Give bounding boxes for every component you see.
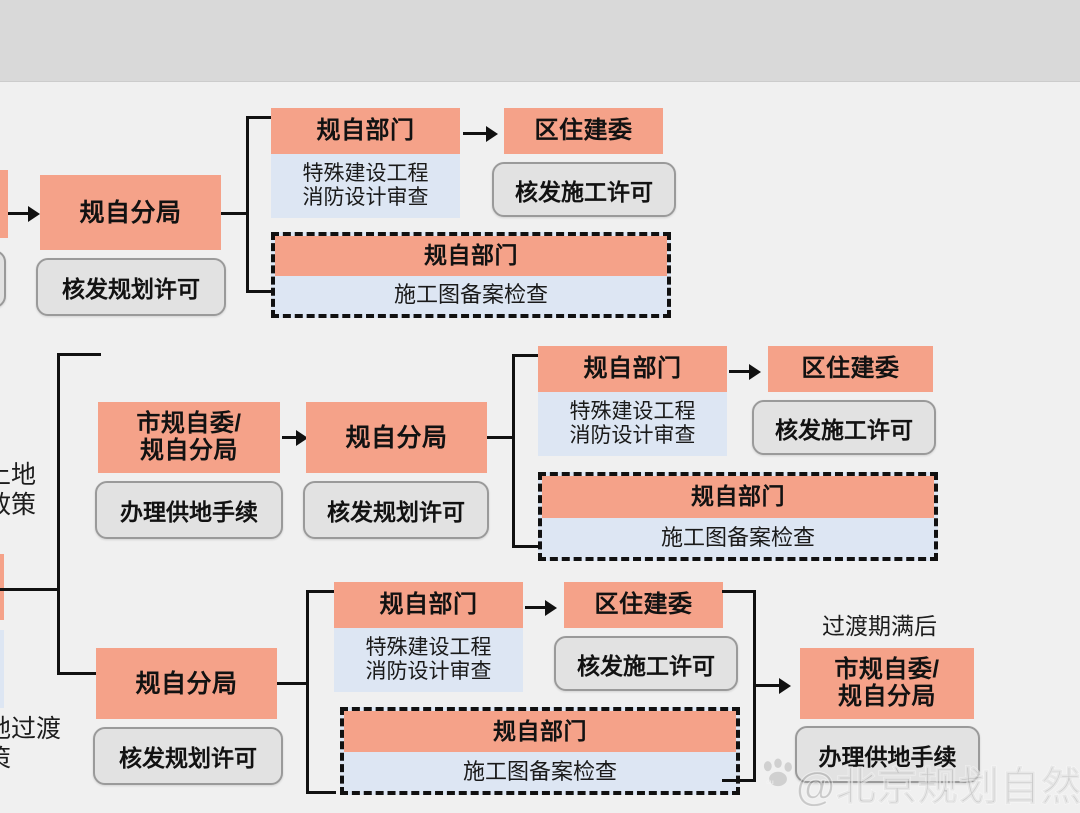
screenshot-root: 规自分局 核发规划许可 规自部门 特殊建设工程 消防设计审查 区住建委 核发施工…	[0, 0, 1080, 813]
connector-line	[512, 545, 540, 548]
node-bot-quzhujianwei-header: 区住建委	[564, 582, 723, 628]
node-bot-after-shiguiziwei[interactable]: 市规自委/ 规自分局	[800, 648, 974, 719]
node-bot-after-shiguiziwei-header: 市规自委/ 规自分局	[800, 648, 974, 719]
node-mid-guizibumen[interactable]: 规自部门 特殊建设工程 消防设计审查	[538, 346, 727, 456]
node-bot-guizibumen-header: 规自部门	[334, 582, 523, 628]
arrow-head-icon	[545, 600, 557, 616]
node-bot-guizifenju-header: 规自分局	[96, 648, 277, 719]
clipped-node-left-middle-header	[0, 554, 4, 620]
node-top-beian-dashed[interactable]: 规自部门 施工图备案检查	[271, 232, 671, 318]
node-mid-guizibumen-header: 规自部门	[538, 346, 727, 392]
node-bot-beian-body: 施工图备案检查	[344, 752, 736, 791]
label-land-policy: 土地 政策	[0, 460, 36, 520]
connector-line	[487, 436, 515, 439]
node-mid-beian-dashed[interactable]: 规自部门 施工图备案检查	[538, 472, 938, 561]
node-mid-guizibumen-body: 特殊建设工程 消防设计审查	[538, 392, 727, 456]
node-mid-beian-header: 规自部门	[542, 476, 934, 518]
connector-line	[246, 116, 274, 119]
clipped-body-left-middle	[0, 630, 4, 708]
node-mid-beian-body: 施工图备案检查	[542, 518, 934, 557]
connector-line	[221, 212, 249, 215]
node-bot-guizifenju[interactable]: 规自分局	[96, 648, 277, 719]
node-bot-guizibumen[interactable]: 规自部门 特殊建设工程 消防设计审查	[334, 582, 523, 692]
connector-line	[57, 353, 101, 356]
node-mid-guizifenju-pill[interactable]: 核发规划许可	[303, 481, 489, 539]
node-top-guizifenju-pill[interactable]: 核发规划许可	[36, 258, 226, 316]
node-bot-quzhujianwei[interactable]: 区住建委	[564, 582, 723, 628]
clipped-pill-left-top-label	[0, 250, 6, 308]
node-bot-beian-header: 规自部门	[344, 711, 736, 752]
node-top-guizifenju-header: 规自分局	[40, 175, 221, 250]
node-top-quzhujianwei-header: 区住建委	[504, 108, 663, 154]
connector-line	[57, 353, 60, 675]
label-land-transition-policy: 地过渡 策	[0, 714, 61, 774]
baidu-paw-icon: du	[761, 758, 795, 788]
connector-line	[306, 590, 336, 593]
connector-line	[246, 116, 249, 293]
clipped-node-left-top	[0, 170, 8, 238]
connector-line	[722, 779, 756, 782]
node-bot-quzhujianwei-pill[interactable]: 核发施工许可	[554, 636, 738, 691]
clipped-pill-left-top	[0, 250, 6, 308]
clipped-node-left-top-header	[0, 170, 8, 238]
connector-line	[463, 132, 488, 135]
node-mid-guizifenju[interactable]: 规自分局	[306, 402, 487, 473]
arrow-head-icon	[749, 364, 761, 380]
connector-line	[0, 588, 60, 591]
node-mid-shiguiziwei-pill[interactable]: 办理供地手续	[95, 481, 283, 539]
connector-line	[246, 290, 274, 293]
node-mid-shiguiziwei-header: 市规自委/ 规自分局	[98, 402, 280, 473]
arrow-head-icon	[28, 206, 40, 222]
node-top-beian-header: 规自部门	[275, 236, 667, 276]
watermark-text: @北京规划自然资源	[796, 754, 1080, 812]
node-mid-shiguiziwei[interactable]: 市规自委/ 规自分局	[98, 402, 280, 473]
node-mid-quzhujianwei-pill[interactable]: 核发施工许可	[752, 400, 936, 455]
node-top-guizibumen-body: 特殊建设工程 消防设计审查	[271, 154, 460, 218]
connector-line	[306, 590, 309, 794]
connector-line	[277, 682, 309, 685]
node-mid-guizifenju-header: 规自分局	[306, 402, 487, 473]
node-bot-beian-dashed[interactable]: 规自部门 施工图备案检查	[340, 707, 740, 795]
arrow-head-icon	[486, 126, 498, 142]
label-after-transition-period: 过渡期满后	[822, 607, 937, 641]
connector-line	[722, 590, 756, 593]
connector-line	[57, 672, 101, 675]
flowchart-canvas: 规自分局 核发规划许可 规自部门 特殊建设工程 消防设计审查 区住建委 核发施工…	[0, 82, 1080, 813]
arrow-head-icon	[779, 678, 791, 694]
window-top-bar	[0, 0, 1080, 82]
connector-line	[306, 791, 336, 794]
connector-line	[729, 370, 751, 373]
node-mid-quzhujianwei[interactable]: 区住建委	[768, 346, 933, 392]
connector-line	[8, 212, 30, 215]
connector-line	[512, 354, 515, 548]
node-top-guizibumen[interactable]: 规自部门 特殊建设工程 消防设计审查	[271, 108, 460, 218]
node-top-guizibumen-header: 规自部门	[271, 108, 460, 154]
node-bot-guizibumen-body: 特殊建设工程 消防设计审查	[334, 628, 523, 692]
node-top-beian-body: 施工图备案检查	[275, 276, 667, 314]
node-top-guizifenju[interactable]: 规自分局	[40, 175, 221, 250]
connector-line	[525, 606, 547, 609]
node-top-quzhujianwei-pill[interactable]: 核发施工许可	[492, 162, 676, 217]
clipped-node-left-middle	[0, 554, 4, 620]
clipped-body-left-middle-text	[0, 630, 4, 708]
connector-line	[512, 354, 540, 357]
svg-text:du: du	[766, 779, 774, 786]
node-mid-quzhujianwei-header: 区住建委	[768, 346, 933, 392]
node-top-quzhujianwei[interactable]: 区住建委	[504, 108, 663, 154]
node-bot-guizifenju-pill[interactable]: 核发规划许可	[93, 727, 283, 785]
